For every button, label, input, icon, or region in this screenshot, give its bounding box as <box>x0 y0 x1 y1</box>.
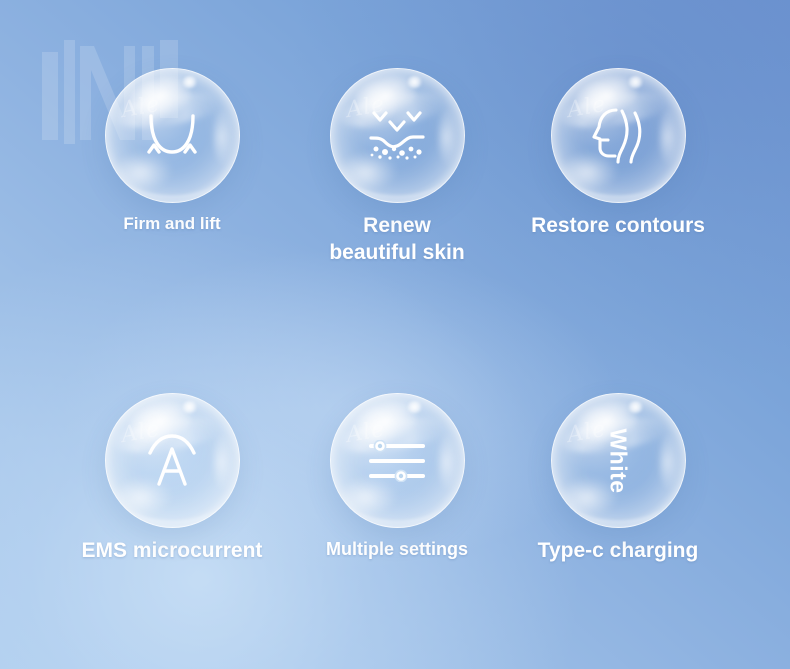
bubble-renew-beautiful-skin: Ale <box>330 68 465 203</box>
face-profile-contour-icon <box>590 107 646 165</box>
bubble-ems-microcurrent: Ale <box>105 393 240 528</box>
feature-item-type-c-charging[interactable]: Ale White Type-c charging <box>508 393 728 565</box>
bubble-firm-and-lift: Ale <box>105 68 240 203</box>
feature-item-renew-beautiful-skin[interactable]: Ale <box>287 68 507 267</box>
feature-item-restore-contours[interactable]: Ale Restore contours <box>508 68 728 240</box>
feature-item-firm-and-lift[interactable]: Ale Firm and lift <box>62 68 282 235</box>
feature-item-ems-microcurrent[interactable]: Ale EMS microcurrent <box>62 393 282 565</box>
bubble-highlight-dot <box>181 76 197 88</box>
feature-item-multiple-settings[interactable]: Ale Multiple se <box>287 393 507 561</box>
feature-label: Renew beautiful skin <box>287 213 507 267</box>
bubble-highlight-right <box>438 434 460 491</box>
bubble-highlight-right <box>659 109 681 166</box>
white-text-tag: White <box>605 428 632 493</box>
jawline-lift-icon <box>143 112 201 160</box>
skin-renewal-icon <box>366 108 428 164</box>
bubble-highlight-right <box>213 434 235 491</box>
bubble-multiple-settings: Ale <box>330 393 465 528</box>
bubble-type-c-charging: Ale White <box>551 393 686 528</box>
bubble-highlight-right <box>659 434 681 491</box>
bubble-restore-contours: Ale <box>551 68 686 203</box>
feature-label: EMS microcurrent <box>62 538 282 565</box>
bubble-highlight-dot <box>627 401 643 413</box>
bubble-highlight-dot <box>406 76 422 88</box>
bubble-highlight-right <box>438 109 460 166</box>
bubble-highlight-right <box>213 109 235 166</box>
sliders-settings-icon <box>368 440 426 482</box>
bubble-highlight-dot <box>627 76 643 88</box>
feature-showcase-panel: Ale Firm and lift <box>0 0 790 669</box>
bubble-highlight-dot <box>406 401 422 413</box>
feature-label: Firm and lift <box>62 213 282 235</box>
feature-grid: Ale Firm and lift <box>0 0 790 669</box>
feature-label: Type-c charging <box>508 538 728 565</box>
bubble-highlight-dot <box>181 401 197 413</box>
feature-label: Restore contours <box>508 213 728 240</box>
ems-wave-a-icon <box>144 433 200 489</box>
feature-label: Multiple settings <box>287 538 507 561</box>
